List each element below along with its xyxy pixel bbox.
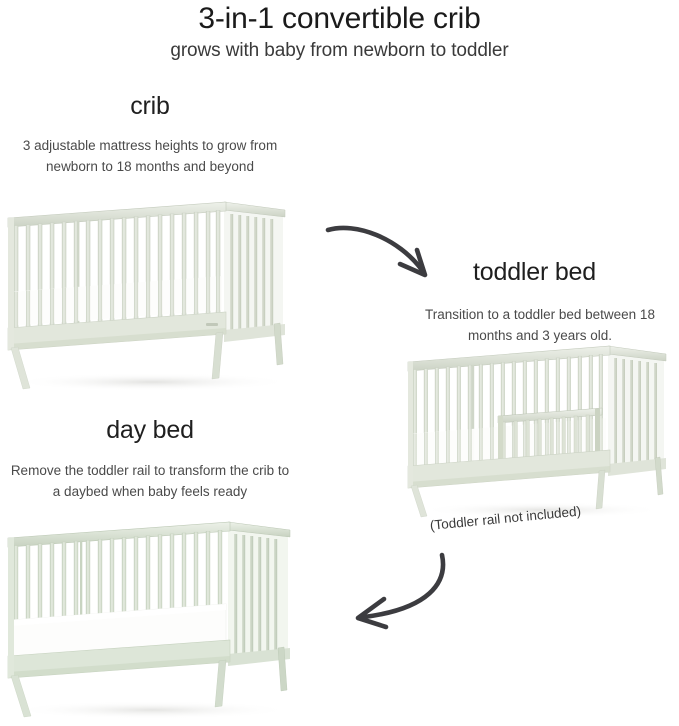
- section-heading-crib: crib: [0, 92, 300, 121]
- section-heading-toddler-bed: toddler bed: [390, 258, 679, 287]
- section-description-crib: 3 adjustable mattress heights to grow fr…: [10, 136, 290, 178]
- section-heading-day-bed: day bed: [0, 416, 300, 445]
- day-bed-illustration: [2, 508, 302, 720]
- section-description-day-bed: Remove the toddler rail to transform the…: [10, 461, 290, 503]
- page-subtitle: grows with baby from newborn to toddler: [0, 40, 679, 62]
- crib-illustration: [2, 192, 302, 392]
- arrow-toddler-to-daybed-icon: [332, 547, 470, 635]
- toddler-bed-illustration: [402, 338, 674, 518]
- page-title: 3-in-1 convertible crib: [0, 2, 679, 36]
